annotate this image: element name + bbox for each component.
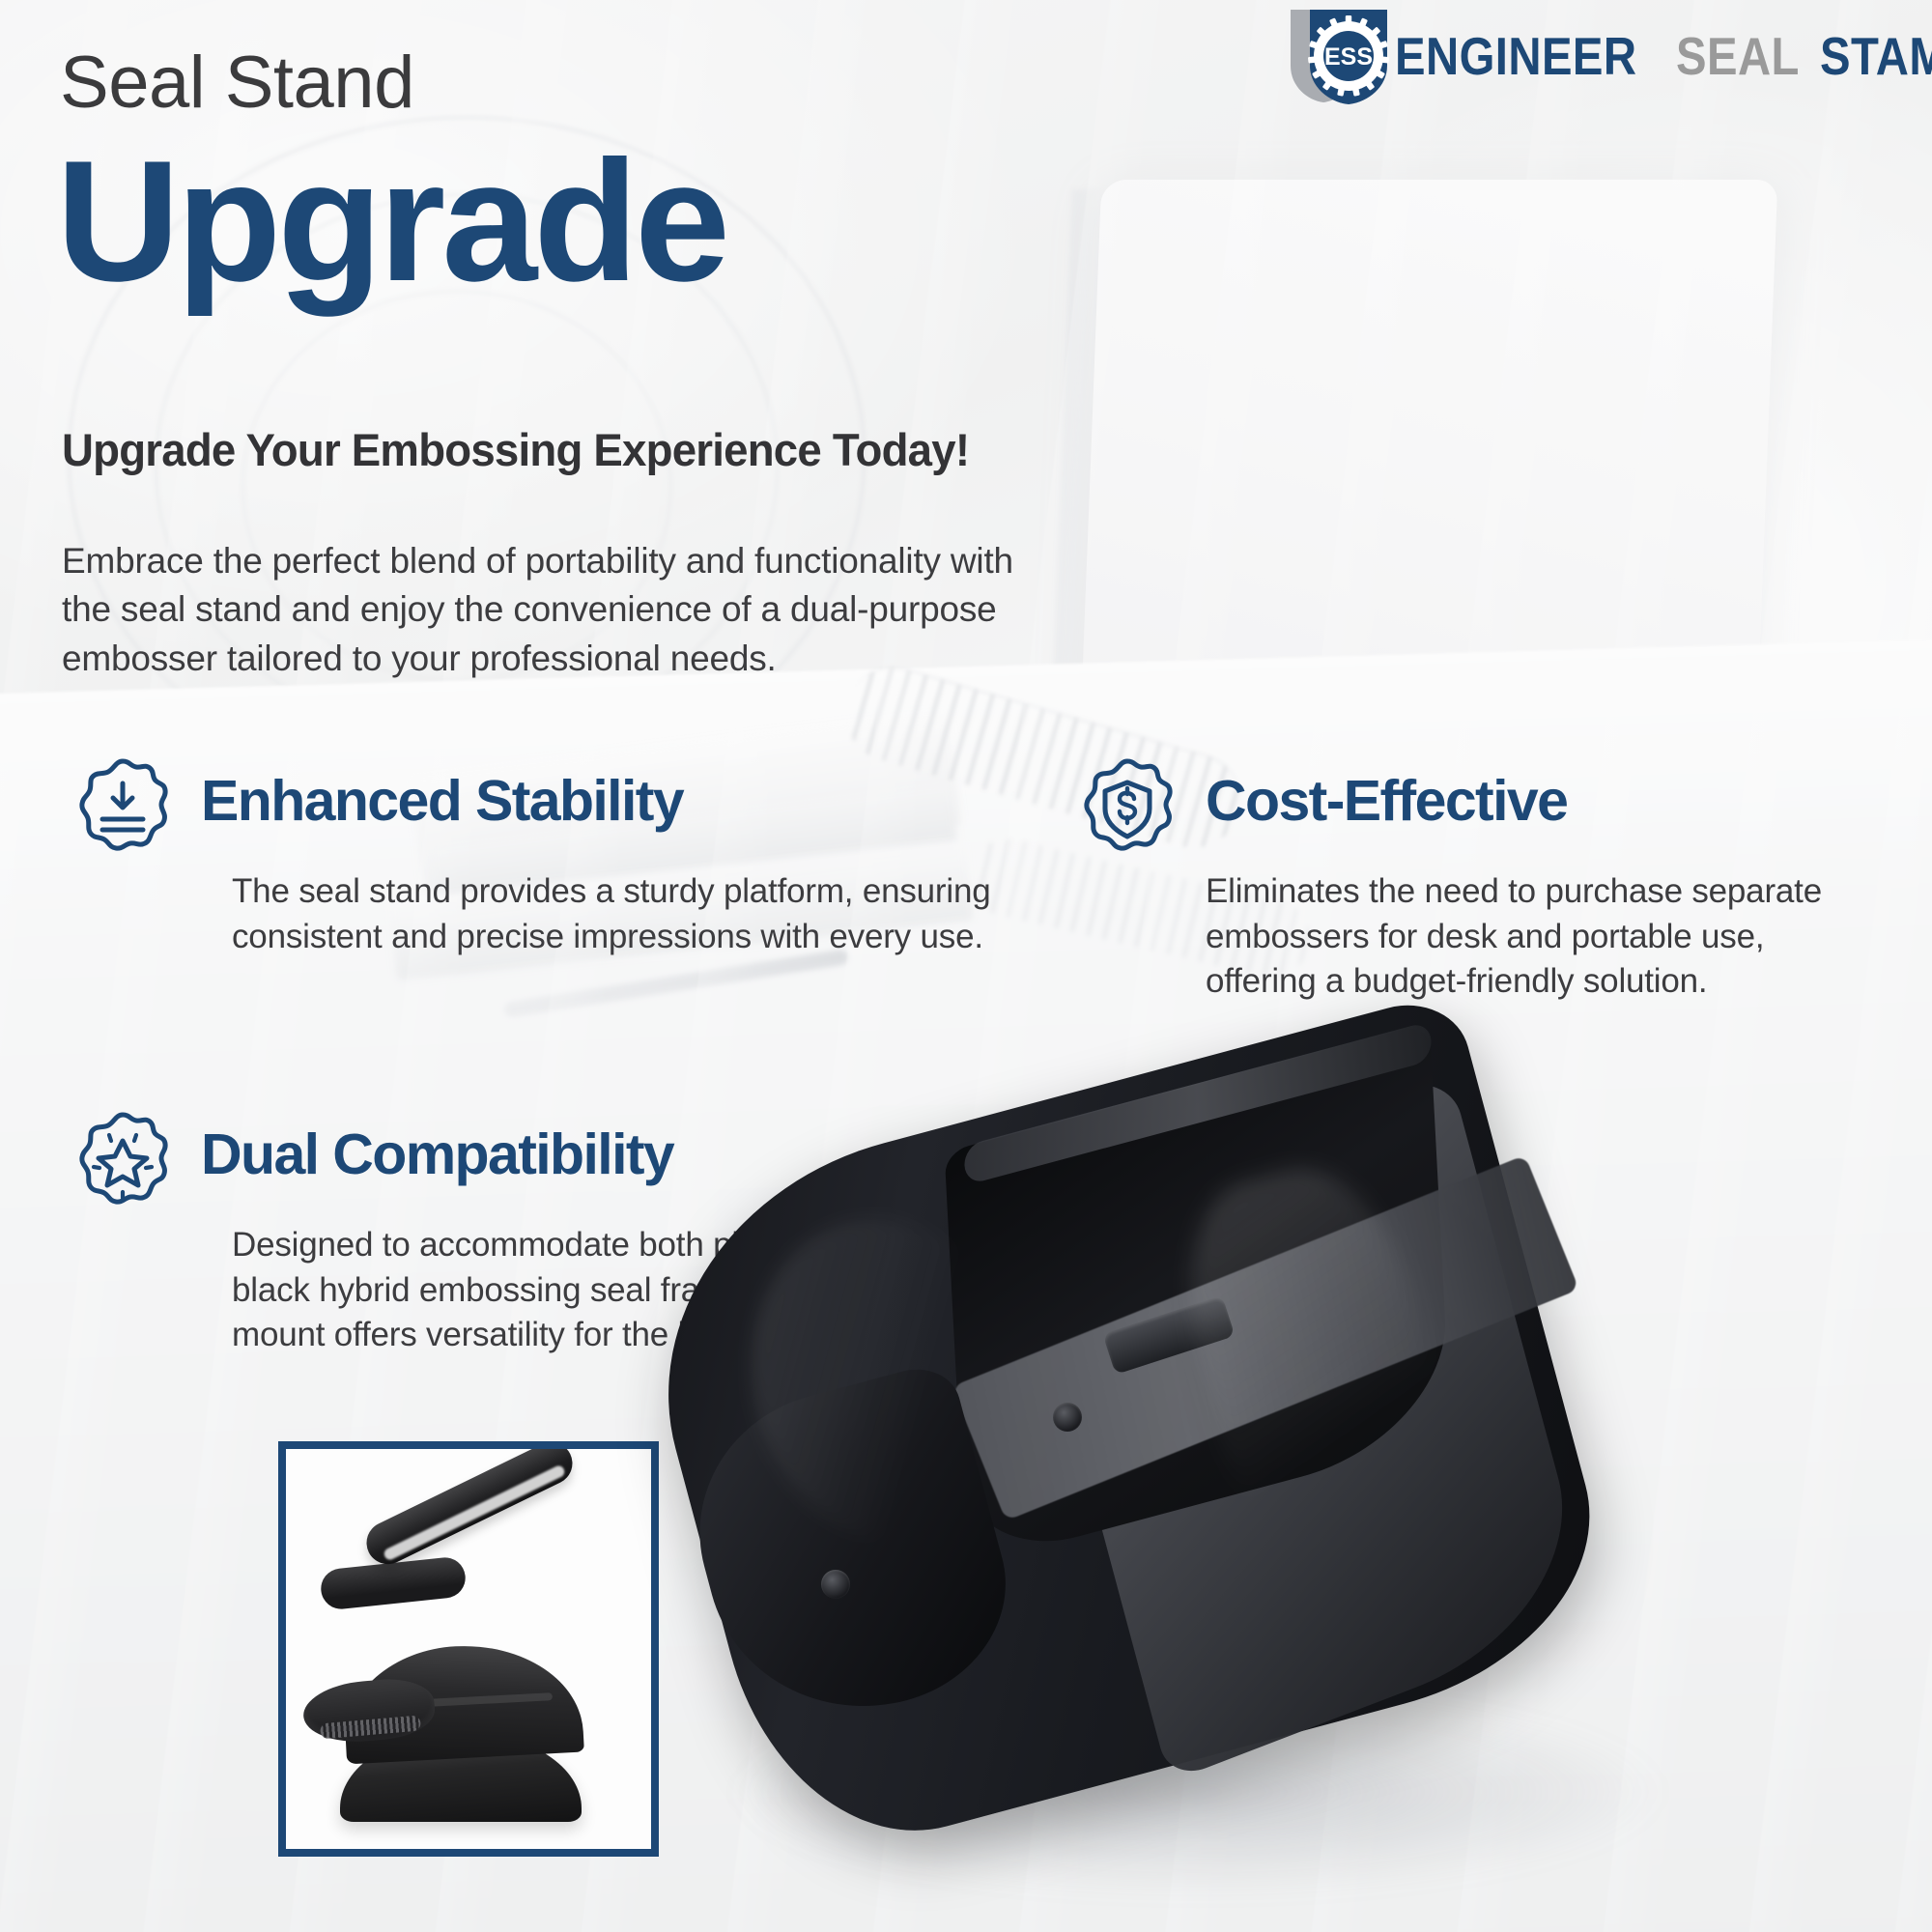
inset-embosser-lower-arm — [319, 1555, 468, 1610]
feature-title: Dual Compatibility — [201, 1126, 673, 1183]
wordmark-engineer: ENGINEER — [1395, 32, 1637, 81]
kicker-text: Seal Stand — [60, 46, 414, 120]
download-to-platform-badge-icon — [70, 755, 176, 862]
feature-description: The seal stand provides a sturdy platfor… — [232, 869, 1082, 959]
intro-paragraph: Embrace the perfect blend of portability… — [62, 537, 1057, 683]
inset-photo-stage — [286, 1449, 651, 1849]
infographic-canvas: ESS ENGINEER SEAL STAMPS .COM Seal Stand… — [0, 0, 1932, 1932]
hero-stand-screw — [1053, 1403, 1082, 1432]
wordmark-seal: SEAL — [1676, 32, 1800, 81]
brand-wordmark: ENGINEER SEAL STAMPS — [1395, 32, 1932, 81]
page-title: Upgrade — [56, 135, 726, 307]
feature-description: Eliminates the need to purchase separate… — [1206, 869, 1862, 1005]
subheadline: Upgrade Your Embossing Experience Today! — [62, 423, 969, 476]
star-sparkle-badge-icon — [70, 1109, 176, 1215]
inset-product-photo — [278, 1441, 659, 1857]
wordmark-stamps: STAMPS — [1820, 32, 1932, 81]
feature-title: Enhanced Stability — [201, 773, 683, 830]
shield-dollar-badge-icon — [1074, 755, 1180, 862]
ess-monogram: ESS — [1324, 43, 1373, 71]
feature-title: Cost-Effective — [1206, 773, 1567, 830]
ess-shield-gear-icon: ESS — [1285, 6, 1393, 106]
brand-logo[interactable]: ESS ENGINEER SEAL STAMPS .COM — [1285, 6, 1932, 106]
hero-product-photo — [667, 1024, 1932, 1932]
hero-stand-screw — [821, 1570, 850, 1599]
